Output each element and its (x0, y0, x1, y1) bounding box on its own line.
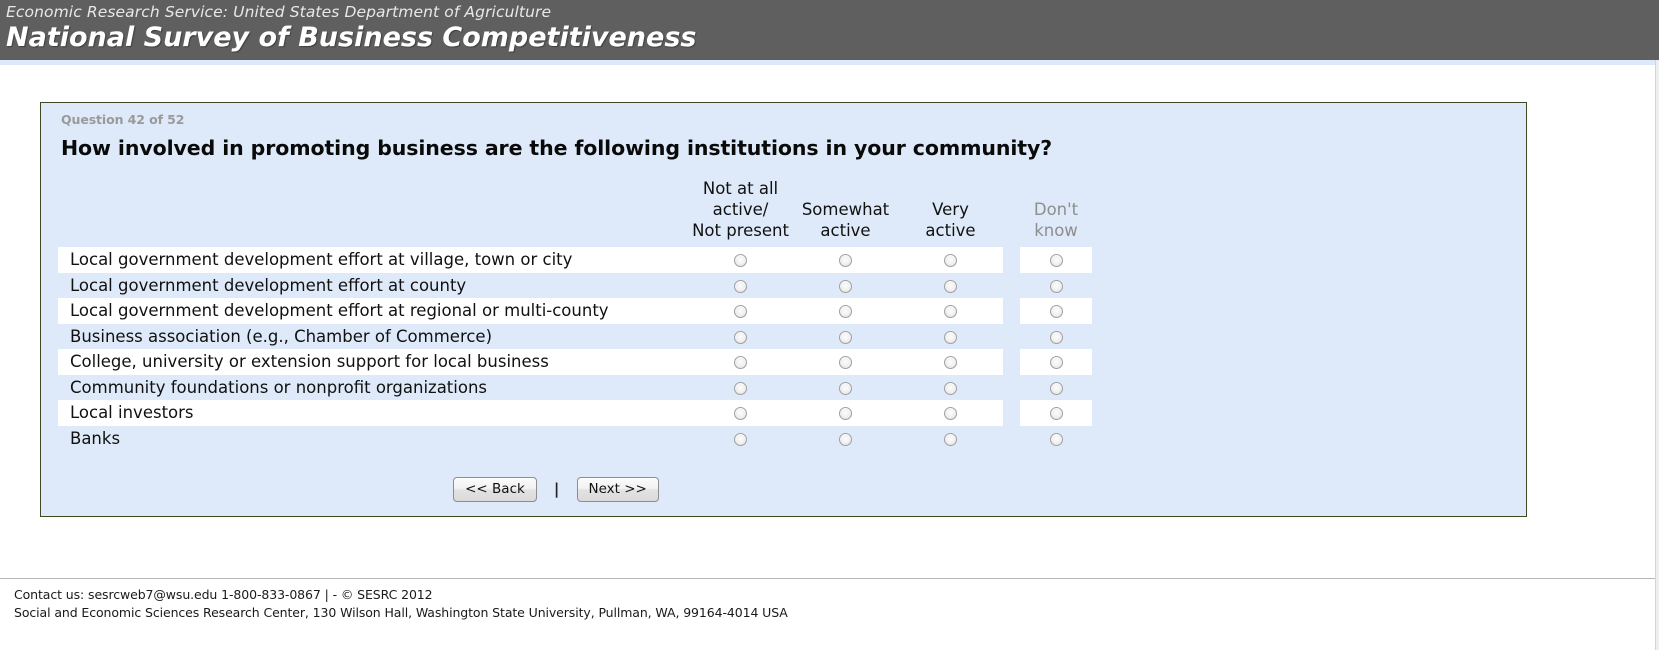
radio-somewhat-active[interactable] (839, 407, 852, 420)
radio-very-active[interactable] (944, 356, 957, 369)
radio-cell-somewhat-active[interactable] (793, 273, 898, 299)
table-row: Banks (58, 426, 1092, 452)
row-label: Banks (58, 426, 688, 452)
radio-very-active[interactable] (944, 407, 957, 420)
radio-not-active[interactable] (734, 382, 747, 395)
row-label: Local government development effort at v… (58, 247, 688, 273)
radio-very-active[interactable] (944, 331, 957, 344)
question-counter: Question 42 of 52 (61, 112, 1526, 127)
response-matrix: Not at all active/ Not present Somewhat … (58, 178, 1092, 451)
row-label: College, university or extension support… (58, 349, 688, 375)
row-label: Business association (e.g., Chamber of C… (58, 324, 688, 350)
radio-cell-somewhat-active[interactable] (793, 324, 898, 350)
radio-somewhat-active[interactable] (839, 382, 852, 395)
radio-cell-not-active[interactable] (688, 400, 793, 426)
radio-cell-somewhat-active[interactable] (793, 375, 898, 401)
table-row: Local government development effort at v… (58, 247, 1092, 273)
column-header-line-3: active (925, 221, 975, 240)
table-row: Local government development effort at r… (58, 298, 1092, 324)
scrollbar[interactable] (1655, 60, 1659, 650)
site-header: Economic Research Service: United States… (0, 0, 1659, 60)
radio-cell-very-active[interactable] (898, 247, 1003, 273)
radio-cell-dont-know[interactable] (1020, 400, 1092, 426)
column-header-not-active: Not at all active/ Not present (688, 178, 793, 247)
radio-cell-not-active[interactable] (688, 349, 793, 375)
radio-somewhat-active[interactable] (839, 254, 852, 267)
radio-dont-know[interactable] (1050, 382, 1063, 395)
radio-cell-somewhat-active[interactable] (793, 298, 898, 324)
matrix-header-blank (58, 178, 688, 247)
radio-cell-dont-know[interactable] (1020, 298, 1092, 324)
radio-somewhat-active[interactable] (839, 305, 852, 318)
column-header-dont-know: Don't know (1020, 178, 1092, 247)
spacer-cell (1003, 247, 1020, 273)
radio-dont-know[interactable] (1050, 331, 1063, 344)
question-prompt: How involved in promoting business are t… (61, 136, 1526, 160)
next-button[interactable]: Next >> (577, 477, 659, 502)
radio-dont-know[interactable] (1050, 407, 1063, 420)
radio-cell-very-active[interactable] (898, 324, 1003, 350)
radio-cell-somewhat-active[interactable] (793, 349, 898, 375)
row-label: Local investors (58, 400, 688, 426)
spacer-cell (1003, 400, 1020, 426)
table-row: Business association (e.g., Chamber of C… (58, 324, 1092, 350)
radio-cell-somewhat-active[interactable] (793, 247, 898, 273)
radio-very-active[interactable] (944, 280, 957, 293)
radio-cell-not-active[interactable] (688, 247, 793, 273)
column-header-line-2: active/ (713, 200, 769, 219)
radio-cell-very-active[interactable] (898, 375, 1003, 401)
column-header-line-2: Somewhat (802, 200, 889, 219)
back-button[interactable]: << Back (453, 477, 537, 502)
radio-not-active[interactable] (734, 331, 747, 344)
row-label: Local government development effort at c… (58, 273, 688, 299)
radio-cell-somewhat-active[interactable] (793, 426, 898, 452)
page-footer: Contact us: sesrcweb7@wsu.edu 1-800-833-… (0, 578, 1659, 622)
spacer-cell (1003, 426, 1020, 452)
radio-cell-not-active[interactable] (688, 298, 793, 324)
agency-name: Economic Research Service: United States… (6, 4, 1659, 21)
radio-somewhat-active[interactable] (839, 280, 852, 293)
spacer-cell (1003, 324, 1020, 350)
matrix-header-gap (1003, 178, 1020, 247)
radio-cell-very-active[interactable] (898, 400, 1003, 426)
radio-cell-dont-know[interactable] (1020, 426, 1092, 452)
radio-cell-not-active[interactable] (688, 426, 793, 452)
radio-not-active[interactable] (734, 280, 747, 293)
column-header-line-3: Not present (692, 221, 789, 240)
radio-cell-dont-know[interactable] (1020, 324, 1092, 350)
spacer-cell (1003, 349, 1020, 375)
radio-not-active[interactable] (734, 407, 747, 420)
column-header-line-3: know (1034, 221, 1078, 240)
content-area: Question 42 of 52 How involved in promot… (0, 65, 1659, 560)
radio-very-active[interactable] (944, 305, 957, 318)
radio-dont-know[interactable] (1050, 356, 1063, 369)
column-header-very-active: Very active (898, 178, 1003, 247)
radio-dont-know[interactable] (1050, 280, 1063, 293)
row-label: Local government development effort at r… (58, 298, 688, 324)
column-header-line-2: Very (932, 200, 969, 219)
radio-not-active[interactable] (734, 305, 747, 318)
spacer-cell (1003, 273, 1020, 299)
spacer-cell (1003, 298, 1020, 324)
radio-very-active[interactable] (944, 382, 957, 395)
radio-cell-dont-know[interactable] (1020, 247, 1092, 273)
nav-separator: | (554, 480, 559, 498)
footer-address-line: Social and Economic Sciences Research Ce… (14, 604, 1659, 622)
radio-somewhat-active[interactable] (839, 433, 852, 446)
radio-cell-not-active[interactable] (688, 324, 793, 350)
radio-cell-dont-know[interactable] (1020, 349, 1092, 375)
footer-contact-line: Contact us: sesrcweb7@wsu.edu 1-800-833-… (14, 586, 1659, 604)
table-row: College, university or extension support… (58, 349, 1092, 375)
column-header-somewhat-active: Somewhat active (793, 178, 898, 247)
survey-title: National Survey of Business Competitiven… (6, 22, 1659, 54)
navigation-row: << Back | Next >> (0, 451, 1526, 516)
question-panel: Question 42 of 52 How involved in promot… (40, 102, 1527, 517)
radio-not-active[interactable] (734, 356, 747, 369)
radio-cell-not-active[interactable] (688, 273, 793, 299)
radio-cell-dont-know[interactable] (1020, 273, 1092, 299)
table-row: Local government development effort at c… (58, 273, 1092, 299)
column-header-line-1: Not at all (703, 179, 778, 198)
radio-dont-know[interactable] (1050, 433, 1063, 446)
row-label: Community foundations or nonprofit organ… (58, 375, 688, 401)
radio-cell-dont-know[interactable] (1020, 375, 1092, 401)
spacer-cell (1003, 375, 1020, 401)
radio-cell-very-active[interactable] (898, 298, 1003, 324)
column-header-line-2: Don't (1034, 200, 1078, 219)
radio-cell-very-active[interactable] (898, 349, 1003, 375)
radio-cell-very-active[interactable] (898, 426, 1003, 452)
radio-cell-very-active[interactable] (898, 273, 1003, 299)
radio-dont-know[interactable] (1050, 305, 1063, 318)
radio-somewhat-active[interactable] (839, 356, 852, 369)
matrix-header: Not at all active/ Not present Somewhat … (58, 178, 1092, 247)
radio-somewhat-active[interactable] (839, 331, 852, 344)
radio-dont-know[interactable] (1050, 254, 1063, 267)
column-header-line-3: active (820, 221, 870, 240)
radio-not-active[interactable] (734, 254, 747, 267)
radio-cell-not-active[interactable] (688, 375, 793, 401)
table-row: Community foundations or nonprofit organ… (58, 375, 1092, 401)
table-row: Local investors (58, 400, 1092, 426)
radio-not-active[interactable] (734, 433, 747, 446)
radio-cell-somewhat-active[interactable] (793, 400, 898, 426)
radio-very-active[interactable] (944, 433, 957, 446)
radio-very-active[interactable] (944, 254, 957, 267)
matrix-body: Local government development effort at v… (58, 247, 1092, 451)
